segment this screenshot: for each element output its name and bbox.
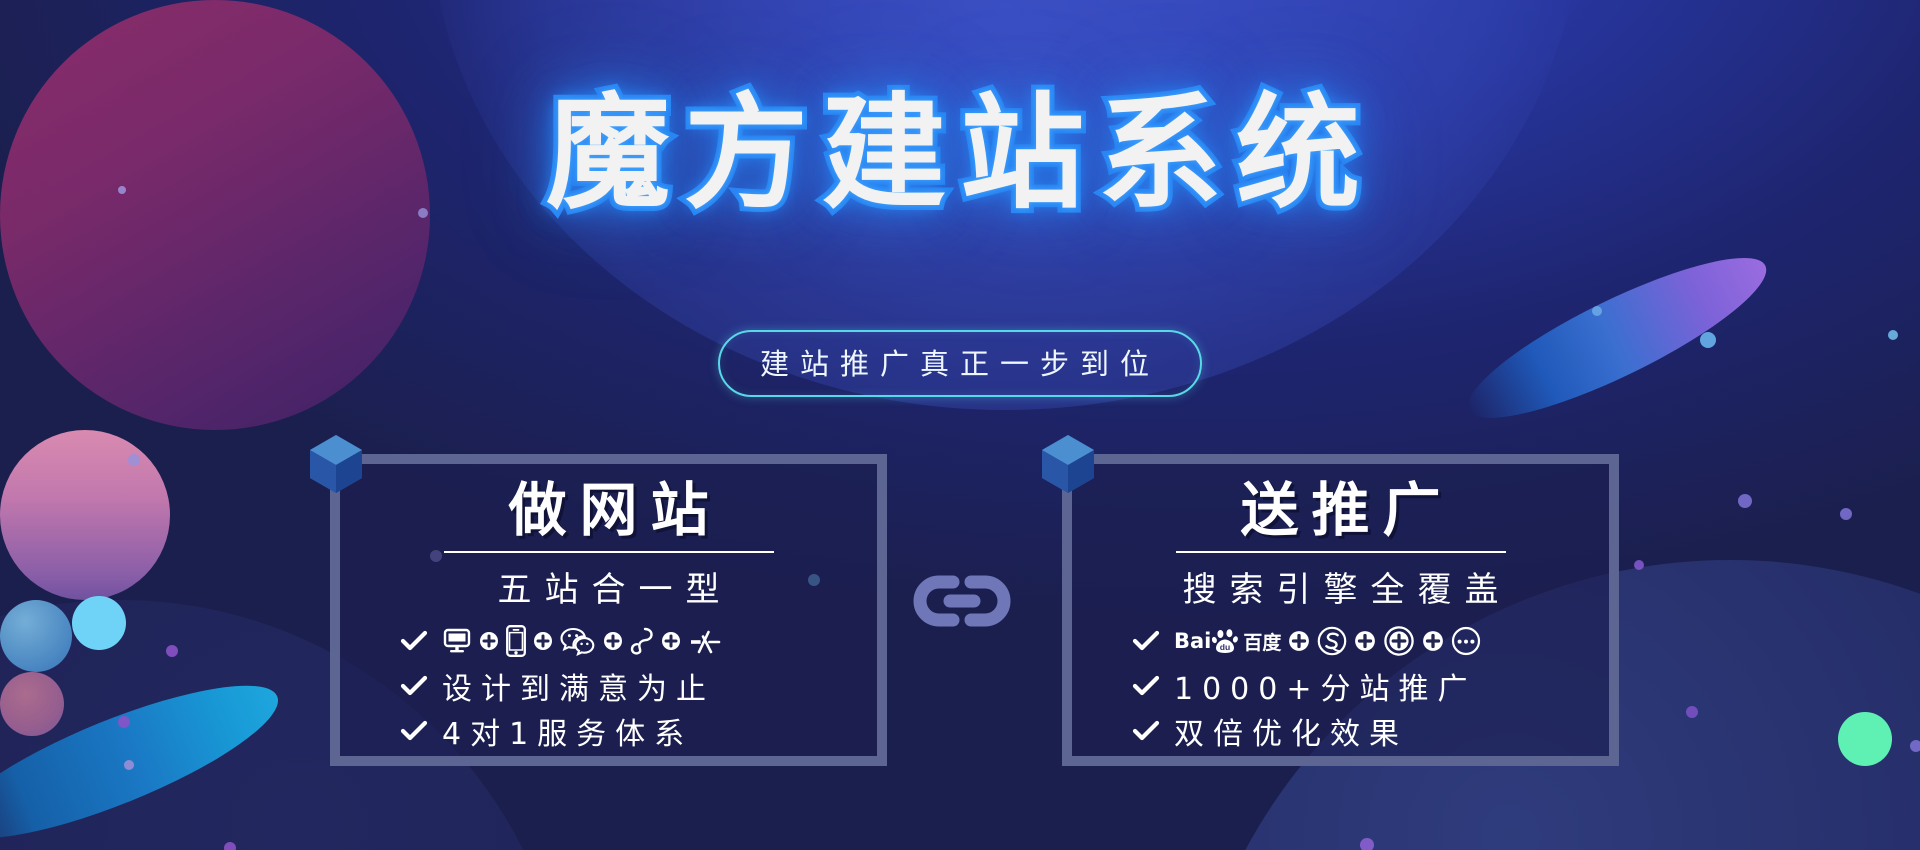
feature-label: 设计到满意为止 [442, 664, 715, 708]
platform-icon-row [442, 625, 722, 657]
feature-row-design: 设计到满意为止 [400, 666, 877, 706]
check-icon [1132, 672, 1160, 700]
feature-row-subsites: 1000+分站推广 [1132, 666, 1609, 706]
feature-list: 设计到满意为止 4对1服务体系 [340, 621, 877, 756]
baidu-logo-icon: Bai du 百度 [1174, 628, 1281, 655]
plus-circle-icon [1354, 630, 1376, 652]
subtitle-container: 建站推广真正一步到位 [0, 330, 1920, 397]
feature-label: 双倍优化效果 [1174, 709, 1408, 753]
feature-list: Bai du 百度 [1072, 621, 1609, 756]
monitor-icon [442, 626, 472, 656]
baidu-chinese-text: 百度 [1243, 628, 1281, 655]
star-dot [224, 842, 236, 850]
app-store-icon [688, 626, 722, 656]
subtitle-pill: 建站推广真正一步到位 [718, 330, 1202, 397]
check-icon [400, 672, 428, 700]
panel-subtitle: 搜索引擎全覆盖 [1170, 562, 1512, 611]
check-icon [400, 627, 428, 655]
mobile-phone-icon [506, 625, 526, 657]
plus-circle-icon [603, 631, 623, 651]
panel-subtitle: 五站合一型 [485, 562, 733, 611]
feature-label: 4对1服务体系 [442, 709, 693, 753]
star-dot [1360, 838, 1374, 850]
title-divider [1176, 551, 1506, 553]
sogou-logo-icon [1317, 626, 1347, 656]
panel-title: 做网站 [495, 478, 721, 543]
check-icon [1132, 627, 1160, 655]
plus-circle-icon [479, 631, 499, 651]
page-title: 魔方建站系统 [546, 88, 1374, 222]
panel-make-website[interactable]: 做网站 五站合一型 [330, 454, 887, 766]
check-icon [400, 717, 428, 745]
feature-row-search-engines: Bai du 百度 [1132, 621, 1609, 661]
banner-stage: 魔方建站系统 建站推广真正一步到位 [0, 0, 1920, 850]
baidu-latin-text: Bai [1174, 629, 1211, 653]
chain-link-icon [913, 570, 1011, 637]
svg-text:du: du [1220, 642, 1231, 652]
plus-circle-icon [661, 631, 681, 651]
feature-label: 1000+分站推广 [1174, 664, 1476, 708]
main-title-container: 魔方建站系统 [0, 88, 1920, 222]
wechat-icon [560, 626, 596, 656]
feature-row-platform-icons [400, 621, 877, 661]
plus-circle-icon [1288, 630, 1310, 652]
star-dot [1592, 306, 1602, 316]
panel-free-promotion[interactable]: 送推广 搜索引擎全覆盖 Bai [1062, 454, 1619, 766]
more-ellipsis-icon [1451, 626, 1481, 656]
360-search-logo-icon [1383, 625, 1415, 657]
title-divider [444, 551, 774, 553]
plus-circle-icon [1422, 630, 1444, 652]
feature-row-double-effect: 双倍优化效果 [1132, 711, 1609, 751]
panel-title: 送推广 [1227, 478, 1453, 543]
weibo-music-icon [630, 626, 654, 656]
search-engine-icon-row: Bai du 百度 [1174, 625, 1481, 657]
check-icon [1132, 717, 1160, 745]
feature-row-service: 4对1服务体系 [400, 711, 877, 751]
plus-circle-icon [533, 631, 553, 651]
